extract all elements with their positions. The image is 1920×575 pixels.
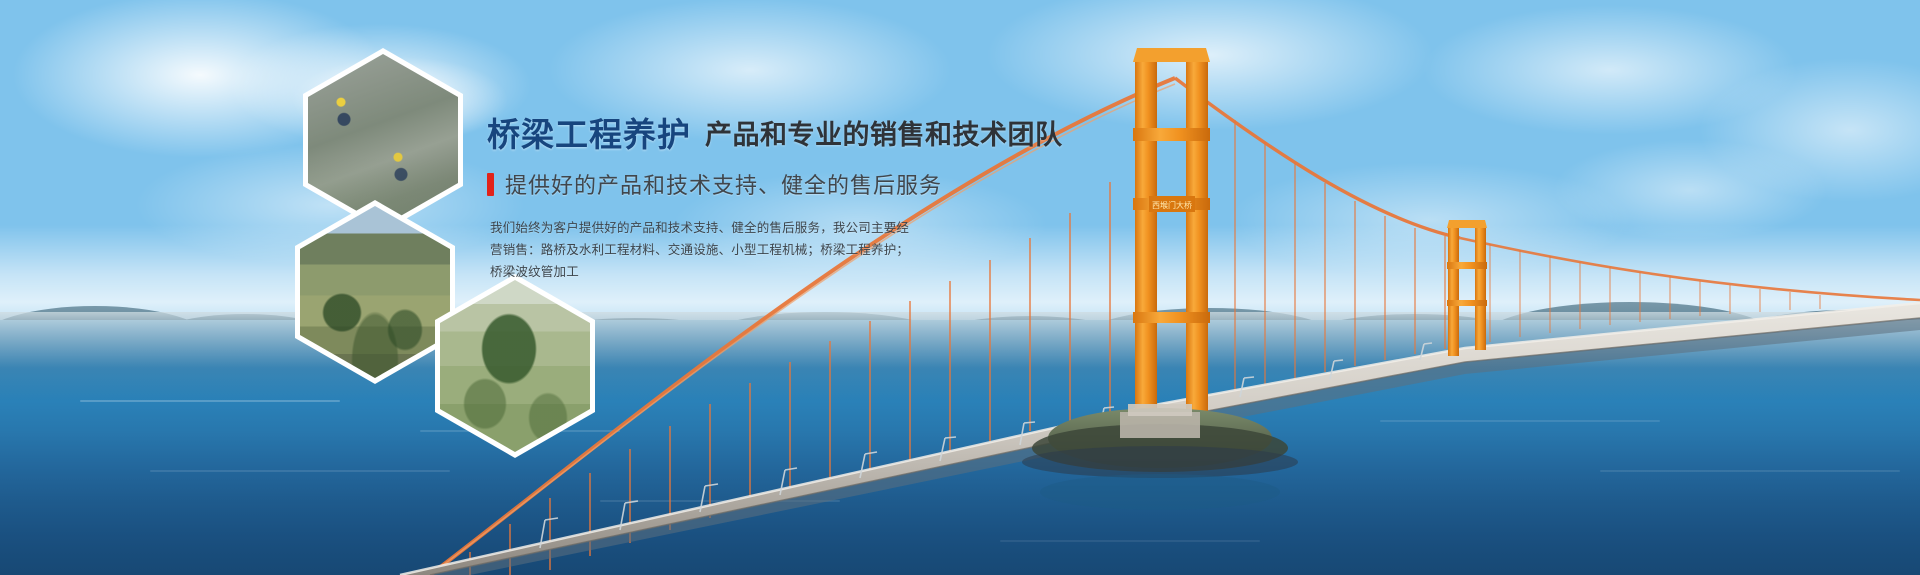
photo-hillside-green-netting <box>300 206 450 378</box>
headline-primary: 桥梁工程养护 <box>487 118 691 151</box>
body-paragraph: 我们始终为客户提供好的产品和技术支持、健全的售后服务，我公司主要经营销售：路桥及… <box>490 218 920 284</box>
headline: 桥梁工程养护 产品和专业的销售和技术团队 <box>487 118 1107 151</box>
subtitle-row: 提供好的产品和技术支持、健全的售后服务 <box>487 168 1107 200</box>
hero-banner: 西堠门大桥 <box>0 0 1920 575</box>
photo-grass-slope-shrub <box>440 280 590 452</box>
subtitle-text: 提供好的产品和技术支持、健全的售后服务 <box>505 168 942 200</box>
gallery-hex-1[interactable] <box>303 48 463 232</box>
sea-highlight <box>0 320 1920 400</box>
headline-secondary: 产品和专业的销售和技术团队 <box>705 122 1063 151</box>
accent-bar-icon <box>487 173 494 196</box>
banner-copy: 桥梁工程养护 产品和专业的销售和技术团队 提供好的产品和技术支持、健全的售后服务… <box>487 118 1107 296</box>
photo-rock-slope-netting-workers <box>308 54 458 226</box>
gallery-hex-2[interactable] <box>295 200 455 384</box>
